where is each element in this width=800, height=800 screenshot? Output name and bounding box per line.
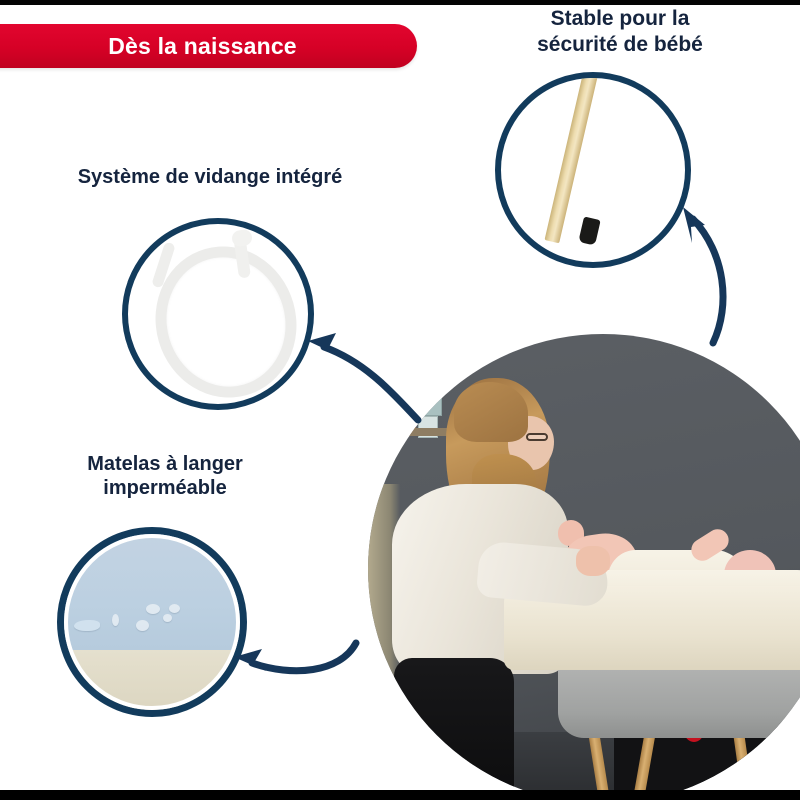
feature-circle-matelas: [57, 527, 247, 717]
caption-matelas: Matelas à langer imperméable: [20, 452, 310, 501]
arrow-line: [693, 219, 723, 343]
arrow-head: [683, 207, 705, 243]
arrow-line: [252, 643, 356, 671]
water-droplet-icon: [163, 614, 172, 622]
water-droplet-icon: [146, 604, 160, 614]
caption-stable-line1: Stable pour la: [455, 6, 785, 32]
water-droplet-icon: [169, 604, 180, 613]
top-letterbox-bar: [0, 0, 800, 5]
arrow-line: [324, 347, 418, 420]
arrow-to-mattress-circle: [222, 625, 372, 695]
mattress-base-cream: [64, 650, 240, 710]
badge-label: Dès la naissance: [0, 24, 417, 68]
water-droplet-icon: [74, 620, 100, 631]
caption-matelas-line2: imperméable: [20, 476, 310, 500]
caption-stable-line2: sécurité de bébé: [455, 32, 785, 58]
caption-stable: Stable pour la sécurité de bébé: [455, 6, 785, 57]
product-feature-infographic: Dès la naissance Stable pour la sécurité…: [0, 0, 800, 800]
arrow-head: [234, 649, 266, 671]
bottom-letterbox-bar: [0, 790, 800, 800]
woman-pants: [394, 658, 514, 800]
mattress-surface-blue: [64, 534, 240, 650]
rubber-foot-icon: [578, 216, 600, 245]
arrow-head: [308, 333, 342, 357]
caption-vidange: Système de vidange intégré: [20, 165, 400, 189]
caption-matelas-line1: Matelas à langer: [20, 452, 310, 476]
feature-circle-vidange: [122, 218, 314, 410]
woman-hair-front: [454, 382, 528, 442]
water-droplet-icon: [136, 620, 149, 631]
woman-hand: [576, 546, 610, 576]
glasses-icon: [526, 433, 548, 441]
water-droplet-icon: [112, 614, 119, 626]
badge-des-la-naissance: Dès la naissance: [0, 24, 417, 68]
arrow-to-leg-circle: [645, 185, 800, 350]
hose-connector-icon: [231, 228, 253, 247]
arrow-to-hose-circle: [300, 325, 440, 435]
